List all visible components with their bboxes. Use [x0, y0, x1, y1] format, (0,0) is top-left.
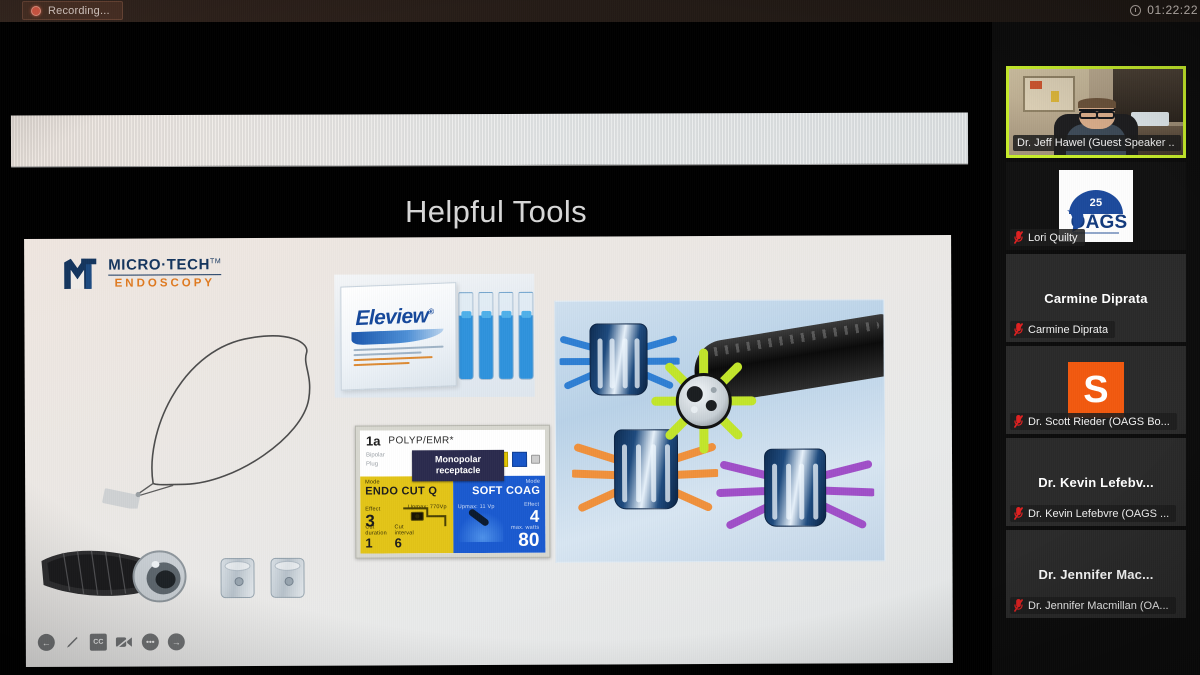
avatar: S [1068, 362, 1124, 418]
participant-tile-jeff-hawel[interactable]: Dr. Jeff Hawel (Guest Speaker ... [1006, 66, 1186, 158]
micro-tech-logo: MICRO·TECHTM ENDOSCOPY [62, 256, 221, 291]
timer-value: 01:22:22 [1147, 3, 1198, 17]
pen-annotate-button[interactable] [64, 634, 81, 651]
vial [458, 292, 473, 380]
screenshot-root: Recording... 01:22:22 Helpful Tools [0, 0, 1200, 675]
more-options-button[interactable]: ••• [142, 633, 159, 650]
participant-name-label: Dr. Scott Rieder (OAGS Bo... [1010, 413, 1177, 430]
coag-waveform-icon [457, 512, 503, 542]
coag-watts-value: 80 [511, 531, 539, 550]
mic-muted-icon [1014, 323, 1023, 336]
eleview-swoosh [351, 329, 443, 346]
recording-label: Recording... [48, 5, 110, 17]
previous-slide-button[interactable]: ← [38, 634, 55, 651]
program-name: POLYP/EMR* [388, 435, 454, 446]
endoscope-tip-photo [37, 538, 217, 611]
blue-ring-body [589, 323, 647, 395]
shared-screen-stage: Helpful Tools MICRO·TECHTM ENDOSCOPY [0, 22, 992, 675]
record-dot-icon [31, 6, 41, 16]
svg-text:25: 25 [1090, 197, 1103, 209]
stop-video-button[interactable] [116, 634, 133, 651]
participant-tile-jennifer-macmillan[interactable]: Dr. Jennifer Mac... Dr. Jennifer Macmill… [1006, 530, 1186, 618]
program-number: 1a [366, 433, 381, 448]
clock-icon [1130, 5, 1141, 16]
distal-cap [220, 558, 254, 598]
participant-name-text: Dr. Jennifer Macmillan (OA... [1028, 600, 1169, 612]
participant-name-label: Dr. Kevin Lefebvre (OAGS ... [1010, 505, 1176, 522]
coag-mode-name: SOFT COAG [458, 485, 541, 497]
distal-cap [270, 558, 304, 598]
brand-name: MICRO·TECH [108, 256, 210, 273]
cut-mode-pane: Mode ENDO CUT Q Effect 3 Upmax: 770Vp [360, 476, 453, 553]
eleview-box: Eleview® [340, 282, 456, 391]
next-slide-button[interactable]: → [168, 633, 185, 650]
micro-tech-wordmark: MICRO·TECHTM ENDOSCOPY [108, 257, 221, 290]
participant-name-label: Lori Quilty [1010, 229, 1085, 246]
traction-device-blue [589, 323, 647, 395]
recording-indicator[interactable]: Recording... [22, 1, 123, 20]
endoscopic-traction-devices-photo [554, 299, 885, 562]
participant-name-text: Lori Quilty [1028, 232, 1078, 244]
coag-max-voltage-label: Upmax: 11 Vp [458, 504, 495, 510]
participant-name-text: Dr. Scott Rieder (OAGS Bo... [1028, 416, 1170, 428]
os-recording-bar: Recording... 01:22:22 [0, 0, 1200, 22]
participant-name-label: Dr. Jennifer Macmillan (OA... [1010, 597, 1176, 614]
callout-line-1: Monopolar [414, 454, 502, 466]
vial [518, 292, 533, 380]
coag-effect-value: 4 [524, 508, 539, 525]
coag-watts-label: max. watts [511, 525, 539, 531]
grey-socket-icon [531, 455, 540, 464]
mic-muted-icon [1014, 507, 1023, 520]
participant-name-label: Carmine Diprata [1010, 321, 1115, 338]
session-timer: 01:22:22 [1130, 3, 1198, 17]
vial [498, 292, 513, 380]
mic-muted-icon [1014, 231, 1023, 244]
participant-name-text: Dr. Jeff Hawel (Guest Speaker ... [1017, 137, 1174, 149]
participant-name-text: Dr. Kevin Lefebvre (OAGS ... [1028, 508, 1169, 520]
electrosurgical-generator-photo: 1a POLYP/EMR* BipolarPlug Monopolar rece… [355, 425, 551, 559]
eleview-box-text [354, 346, 444, 370]
participant-filmstrip[interactable]: Dr. Jeff Hawel (Guest Speaker ... 25 OAG… [992, 22, 1200, 675]
monopolar-receptacle-callout: Monopolar receptacle [412, 450, 504, 481]
eleview-wordmark: Eleview® [355, 304, 433, 331]
cut-interval-label: Cut interval [395, 524, 422, 536]
brand-division: ENDOSCOPY [108, 278, 221, 290]
participant-tile-scott-rieder[interactable]: S Dr. Scott Rieder (OAGS Bo... [1006, 346, 1186, 434]
presenter-toolbar[interactable]: ← CC ••• → [38, 633, 185, 651]
participant-name-text: Carmine Diprata [1028, 324, 1108, 336]
eleview-vials [458, 292, 533, 380]
mt-mark-icon [62, 257, 100, 291]
captions-button[interactable]: CC [90, 634, 107, 651]
distal-caps-photo [220, 558, 304, 598]
mic-muted-icon [1014, 599, 1023, 612]
vial [478, 292, 493, 380]
generator-mode-panes: Mode ENDO CUT Q Effect 3 Upmax: 770Vp [360, 476, 545, 554]
endoscope-distal-face [676, 373, 732, 429]
coag-mode-pane: Mode SOFT COAG Upmax: 11 Vp Effect 4 max… [453, 476, 546, 553]
mic-muted-icon [1014, 415, 1023, 428]
cut-duration-label: Cut duration [365, 524, 394, 536]
slide-content: MICRO·TECHTM ENDOSCOPY [24, 235, 953, 667]
blue-socket-icon [512, 452, 527, 467]
cut-effect-label: Effect [365, 506, 380, 512]
blue-ring-slots [598, 338, 640, 388]
trademark-symbol: TM [210, 258, 221, 265]
participant-tile-kevin-lefebvre[interactable]: Dr. Kevin Lefebv... Dr. Kevin Lefebvre (… [1006, 438, 1186, 526]
purple-ring-body [764, 449, 826, 527]
coag-effect-label: Effect [524, 502, 539, 508]
participant-tile-carmine-diprata[interactable]: Carmine Diprata Carmine Diprata [1006, 254, 1186, 342]
generator-screen: 1a POLYP/EMR* BipolarPlug Monopolar rece… [360, 430, 546, 554]
generator-subtext: BipolarPlug [366, 451, 385, 469]
purple-ring-slots [772, 464, 818, 520]
generator-program-row: 1a POLYP/EMR* [360, 430, 545, 451]
cut-interval-value: 6 [395, 536, 422, 549]
participant-tile-lori-quilty[interactable]: 25 OAGS Lori Quilty [1006, 162, 1186, 250]
page-title: Helpful Tools [0, 194, 992, 230]
callout-line-2: receptacle [414, 465, 502, 477]
cut-duration-value: 1 [365, 536, 394, 549]
traction-device-purple [764, 449, 826, 527]
app-toolbar-strip [11, 112, 968, 167]
eleview-product-photo: Eleview® [334, 274, 535, 398]
participant-name-label: Dr. Jeff Hawel (Guest Speaker ... [1013, 135, 1181, 151]
cut-mode-name: ENDO CUT Q [365, 485, 448, 497]
snare-loop-photo [84, 313, 345, 509]
